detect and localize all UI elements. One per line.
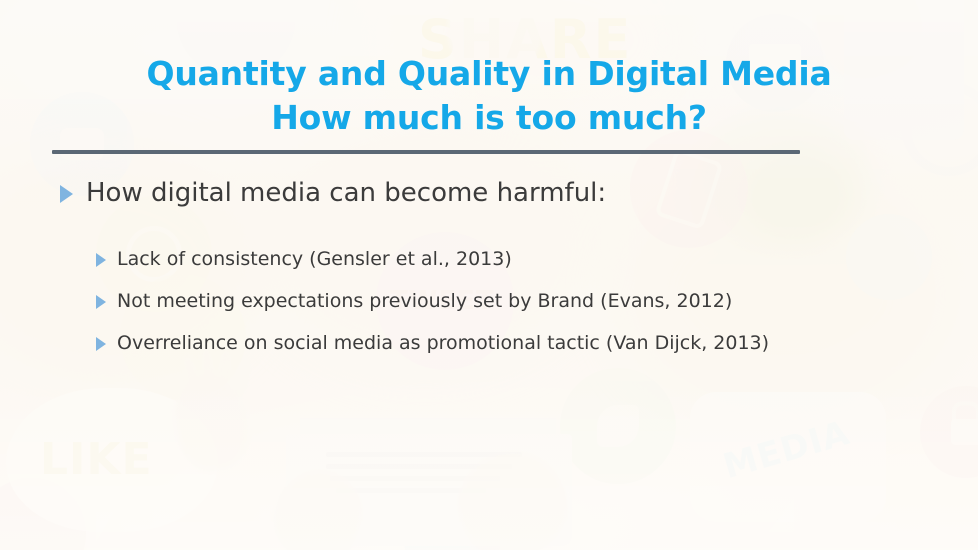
bullet-level2-item: Lack of consistency (Gensler et al., 201… — [0, 246, 978, 272]
triangle-bullet-icon — [96, 337, 106, 351]
slide-title-line-1: Quantity and Quality in Digital Media — [0, 52, 978, 96]
bullet-level2-group: Lack of consistency (Gensler et al., 201… — [0, 246, 978, 356]
title-divider-rule — [52, 150, 800, 154]
bullet-level1-item: How digital media can become harmful: — [0, 176, 978, 210]
bullet-level2-item: Not meeting expectations previously set … — [0, 288, 978, 314]
bullet-level1-label: How digital media can become harmful: — [86, 176, 606, 210]
bullet-level2-item: Overreliance on social media as promotio… — [0, 330, 978, 356]
slide-title: Quantity and Quality in Digital Media Ho… — [0, 52, 978, 140]
triangle-bullet-icon — [96, 253, 106, 267]
bullet-list: How digital media can become harmful: La… — [0, 176, 978, 372]
bullet-level2-label: Not meeting expectations previously set … — [117, 288, 732, 314]
bullet-level2-label: Lack of consistency (Gensler et al., 201… — [117, 246, 512, 272]
triangle-bullet-icon — [96, 295, 106, 309]
bullet-level2-label: Overreliance on social media as promotio… — [117, 330, 769, 356]
slide-title-line-2: How much is too much? — [0, 96, 978, 140]
slide-content: Quantity and Quality in Digital Media Ho… — [0, 0, 978, 550]
presentation-slide: SHARE TWEET — [0, 0, 978, 550]
triangle-bullet-icon — [60, 185, 73, 203]
